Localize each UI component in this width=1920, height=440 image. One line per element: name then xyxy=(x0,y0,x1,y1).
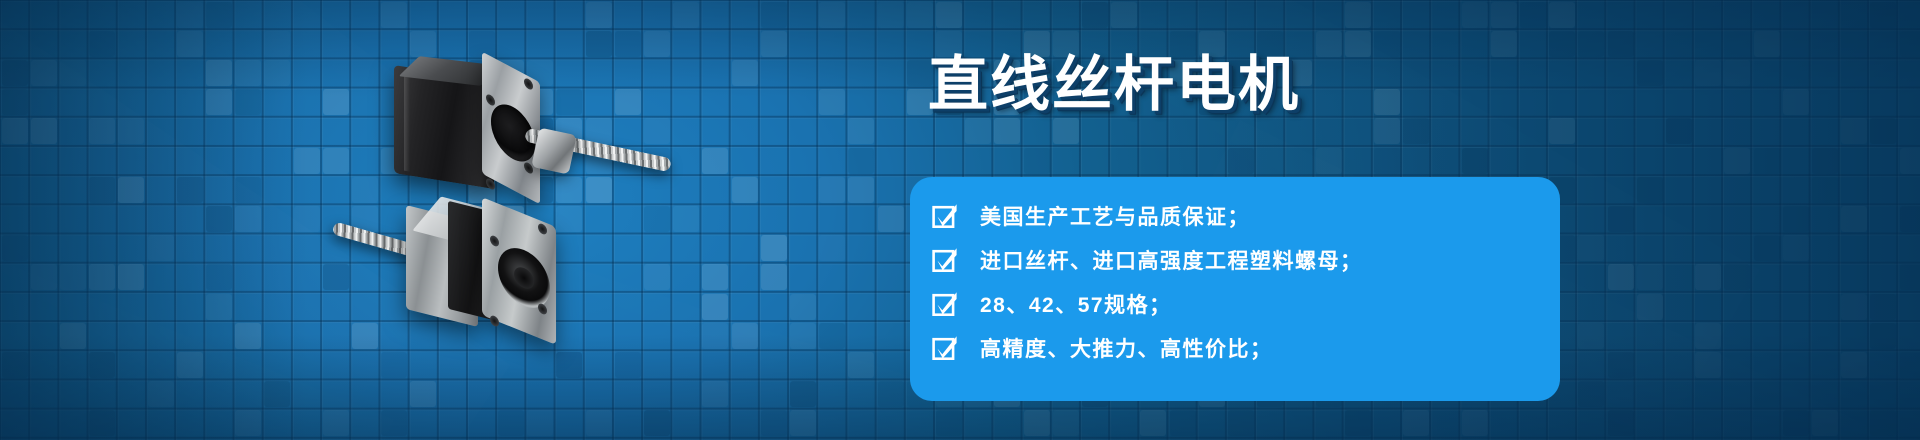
feature-item: 美国生产工艺与品质保证； xyxy=(910,194,1560,238)
banner-title: 直线丝杆电机 xyxy=(928,52,1300,118)
checkbox-checked-icon xyxy=(932,247,958,273)
feature-item: 进口丝杆、进口高强度工程塑料螺母； xyxy=(910,238,1560,282)
feature-item: 高精度、大推力、高性价比； xyxy=(910,326,1560,370)
feature-text: 进口丝杆、进口高强度工程塑料螺母； xyxy=(980,245,1363,275)
checkbox-checked-icon xyxy=(932,335,958,361)
feature-item: 28、42、57规格； xyxy=(910,282,1560,326)
checkbox-checked-icon xyxy=(932,291,958,317)
checkbox-checked-icon xyxy=(932,203,958,229)
feature-text: 高精度、大推力、高性价比； xyxy=(980,333,1273,363)
feature-text: 28、42、57规格； xyxy=(980,289,1172,319)
feature-text: 美国生产工艺与品质保证； xyxy=(980,201,1250,231)
product-banner: 直线丝杆电机 美国生产工艺与品质保证； 进口丝 xyxy=(0,0,1920,440)
feature-list-panel: 美国生产工艺与品质保证； 进口丝杆、进口高强度工程塑料螺母； xyxy=(910,177,1560,401)
banner-content: 直线丝杆电机 美国生产工艺与品质保证； 进口丝 xyxy=(0,0,1920,440)
